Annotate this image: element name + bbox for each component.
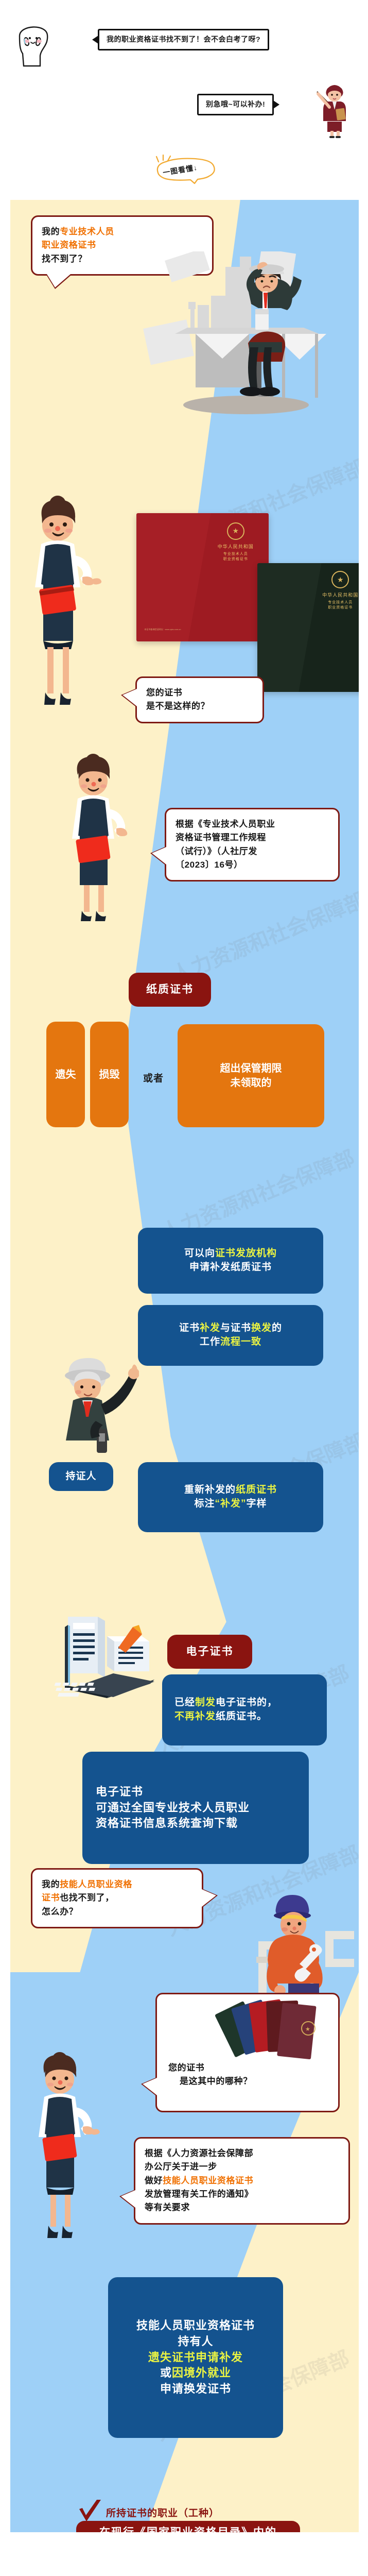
passport-fan-illustration: ★ [209, 1997, 333, 2064]
chip-damaged-label: 损毁 [99, 1067, 120, 1082]
regulation-bubble-skilled: 根据《人力资源社会保障部 办公厅关于进一步 做好技能人员职业资格证书 发放管理有… [134, 2137, 350, 2225]
heading-in-catalog-line1: 所持证书的职业（工种） [106, 2505, 219, 2519]
question-bubble-which-kind: ★ 您的证书 是这其中的哪种？ [155, 1993, 340, 2112]
regulation2-line-1: 根据《人力资源社会保障部 [145, 2147, 339, 2160]
section-badge-paper-label: 纸质证书 [146, 982, 194, 997]
q1-pre: 我的 [42, 227, 60, 236]
blue6-line4-a: 或 [160, 2366, 172, 2379]
blue3-c: 标注 [194, 1498, 215, 1509]
bubble-tail-icon [92, 36, 98, 44]
q2-line1: 您的证书 [146, 686, 253, 700]
certificate-green: ★ 中华人民共和国 专业技术人员 职业资格证书 [257, 563, 359, 692]
national-emblem-icon: ★ [331, 571, 349, 588]
bubble-tail-icon [143, 2078, 157, 2095]
regulation2-highlight: 技能人员职业资格证书 [163, 2176, 253, 2185]
blue4-c: 电子证书 [216, 1697, 257, 1708]
certificate-nation: 中华人民共和国 [313, 591, 359, 598]
label-certificate-holder-text: 持证人 [65, 1470, 96, 1484]
or-connector-label: 或者 [143, 1071, 164, 1084]
blue3-b: 纸质证书 [236, 1484, 277, 1495]
blue1-a: 可以向 [184, 1248, 215, 1259]
woman-presenter-illustration-3 [26, 2049, 103, 2243]
national-emblem-icon: ★ [227, 522, 244, 540]
blue6-line2: 持有人 [178, 2334, 213, 2350]
q3-highlight-1: 技能人员职业资格 [60, 1879, 132, 1889]
q3-highlight-2: 证书 [42, 1893, 60, 1903]
regulation-bubble-professional: 根据《专业技术人员职业 资格证书管理工作规程 （试行）》（人社厅发 〔2023〕… [165, 808, 340, 882]
chip-lost-label: 遗失 [56, 1067, 76, 1082]
teacher-chat-bubble: 别急哦~可以补办! [197, 94, 274, 115]
blue3-a: 重新补发的 [184, 1484, 236, 1495]
bubble-tail-icon [47, 274, 71, 287]
info-box-query-download: 电子证书 可通过全国专业技术人员职业 资格证书信息系统查询下载 [82, 1752, 309, 1864]
regulation-line-3: （试行）》（人社厅发 [176, 845, 329, 858]
user-chat-text: 我的职业资格证书找不到了！会不会白考了呀? [107, 35, 260, 43]
info-box-line1: 电子证书 [96, 1784, 143, 1800]
regulation-line-4: 〔2023〕16号） [176, 858, 329, 872]
blue6-line3: 遗失证书申请补发 [148, 2350, 243, 2366]
blue2-a: 证书 [179, 1323, 200, 1333]
info-box-line1: 证书补发与证书换发的 [179, 1321, 282, 1335]
blue3-d: “补发” [215, 1498, 246, 1509]
bubble-tail-icon [152, 847, 166, 865]
chip-damaged: 损毁 [90, 1022, 129, 1127]
q3-pre: 我的 [42, 1879, 60, 1889]
info-box-reissue-marking: 重新补发的纸质证书 标注“补发”字样 [138, 1462, 323, 1532]
blue2-d: 换发 [251, 1323, 272, 1333]
blue2-c: 与证书 [220, 1323, 251, 1333]
svg-text:★: ★ [305, 2026, 310, 2032]
certificate-red: ★ 中华人民共和国 专业技术人员 职业资格证书 本证书查询验证网址：www.cp… [136, 513, 269, 641]
certificate-type-2: 职业资格证书 [203, 556, 269, 562]
blue6-line4-b: 因境外就业 [172, 2366, 231, 2379]
blue6-line5: 申请换发证书 [160, 2381, 231, 2397]
info-box-same-workflow: 证书补发与证书换发的 工作流程一致 [138, 1305, 323, 1366]
heading-in-catalog-band: 在现行《国家职业资格目录》内的 [76, 2521, 300, 2532]
blue1-b: 证书发放机构 [215, 1248, 277, 1259]
blue2-b: 补发 [200, 1323, 220, 1333]
q1-highlight-1: 专业技术人员 [60, 227, 114, 236]
q1-highlight-2: 职业资格证书 [42, 240, 96, 250]
info-box-line2: 工作流程一致 [200, 1335, 261, 1349]
bubble-tail-icon [122, 689, 137, 706]
woman-presenter-illustration-2 [59, 751, 136, 924]
look-badge: 一图看懂↓ [149, 155, 221, 187]
info-box-line1: 重新补发的纸质证书 [184, 1483, 277, 1497]
blue4-b: 制发 [195, 1697, 216, 1708]
info-box-line1: 已经制发电子证书的， [174, 1696, 277, 1710]
info-box-line1: 可以向证书发放机构 [184, 1247, 277, 1261]
certificate-face: ★ 中华人民共和国 专业技术人员 职业资格证书 [203, 513, 269, 562]
blue2-g: 流程一致 [220, 1336, 261, 1347]
q2-line2: 是不是这样的？ [146, 700, 253, 713]
blue4-a: 已经 [174, 1697, 195, 1708]
certificate-url: 本证书查询验证网址：www.cpta.com.cn [144, 628, 181, 631]
question-bubble-skilled: 我的技能人员职业资格 证书也找不到了， 怎么办？ [31, 1868, 203, 1928]
infographic-panel: 人力资源和社会保障部 人力资源和社会保障部 人力资源和社会保障部 人力资源和社会… [10, 200, 359, 2532]
certificate-type-1: 专业技术人员 [313, 600, 359, 605]
blue4-d: 的， [257, 1697, 277, 1708]
regulation2-line-3-pre: 做好 [145, 2176, 163, 2185]
section-badge-electronic-certificate: 电子证书 [167, 1635, 252, 1669]
info-box-line3: 资格证书信息系统查询下载 [96, 1816, 238, 1832]
regulation2-line-4: 发放管理有关工作的通知》 [145, 2188, 339, 2201]
heading-in-catalog-line2: 在现行《国家职业资格目录》内的 [99, 2525, 277, 2532]
certificate-type-1: 专业技术人员 [203, 551, 269, 556]
certificate-face: ★ 中华人民共和国 专业技术人员 职业资格证书 [313, 563, 359, 610]
blue3-e: 字样 [247, 1498, 267, 1509]
chip-expired-line2: 未领取的 [231, 1076, 272, 1090]
question-bubble-is-this-yours: 您的证书 是不是这样的？ [135, 676, 264, 723]
q3-post: 也找不到了， [60, 1893, 114, 1903]
laptop-documents-illustration [41, 1612, 160, 1727]
blue2-e: 的 [272, 1323, 282, 1333]
chat-header: 我的职业资格证书找不到了！会不会白考了呀? 别急哦~可以补办! [0, 0, 368, 200]
bubble-tail-icon [273, 100, 279, 109]
blue4-e: 不再补发 [174, 1711, 216, 1722]
teacher-avatar [315, 77, 354, 138]
chip-lost: 遗失 [46, 1022, 85, 1127]
user-chat-bubble: 我的职业资格证书找不到了！会不会白考了呀? [98, 29, 269, 50]
engineer-pointing-illustration [51, 1344, 139, 1465]
worker-at-desk-illustration [134, 251, 355, 424]
q3-line3: 怎么办？ [42, 1905, 192, 1919]
chip-expired-line1: 超出保管期限 [220, 1061, 282, 1076]
regulation-line-1: 根据《专业技术人员职业 [176, 818, 329, 831]
q1-tail-text: 找不到了？ [42, 254, 87, 264]
info-box-line2: 不再补发纸质证书。 [174, 1710, 267, 1724]
label-certificate-holder: 持证人 [49, 1462, 113, 1491]
info-box-line2: 标注“补发”字样 [194, 1497, 267, 1511]
woman-presenter-illustration [21, 488, 103, 728]
blob-avatar [14, 19, 51, 68]
blue6-line4: 或因境外就业 [160, 2365, 231, 2381]
regulation2-line-5: 等有关要求 [145, 2201, 339, 2214]
blue6-line1: 技能人员职业资格证书 [136, 2318, 255, 2334]
bubble-tail-icon [121, 2190, 135, 2208]
info-box-line2: 可通过全国专业技术人员职业 [96, 1800, 250, 1816]
bubble-tail-icon [202, 1889, 216, 1907]
info-box-skilled-holder: 技能人员职业资格证书 持有人 遗失证书申请补发 或因境外就业 申请换发证书 [108, 2277, 283, 2438]
info-box-no-paper-reissue: 已经制发电子证书的， 不再补发纸质证书。 [162, 1674, 327, 1745]
q4-line2: 是这其中的哪种？ [180, 2075, 252, 2088]
blue4-g: 。 [257, 1711, 267, 1722]
regulation-line-2: 资格证书管理工作规程 [176, 831, 329, 844]
regulation2-line-2: 办公厅关于进一步 [145, 2160, 339, 2174]
info-box-line2: 申请补发纸质证书 [189, 1261, 272, 1275]
certificate-type-2: 职业资格证书 [313, 605, 359, 610]
chip-expired-unclaimed: 超出保管期限 未领取的 [178, 1024, 324, 1127]
section-badge-electronic-label: 电子证书 [186, 1644, 234, 1659]
section-badge-paper-certificate: 纸质证书 [129, 973, 211, 1007]
info-box-apply-reissue: 可以向证书发放机构 申请补发纸质证书 [138, 1228, 323, 1294]
q4-line1: 您的证书 [168, 2061, 252, 2075]
blue4-f: 纸质证书 [216, 1711, 257, 1722]
blue2-f: 工作 [200, 1336, 220, 1347]
teacher-chat-text: 别急哦~可以补办! [206, 100, 265, 108]
footer-whitespace [0, 2532, 368, 2576]
certificate-nation: 中华人民共和国 [203, 543, 269, 550]
